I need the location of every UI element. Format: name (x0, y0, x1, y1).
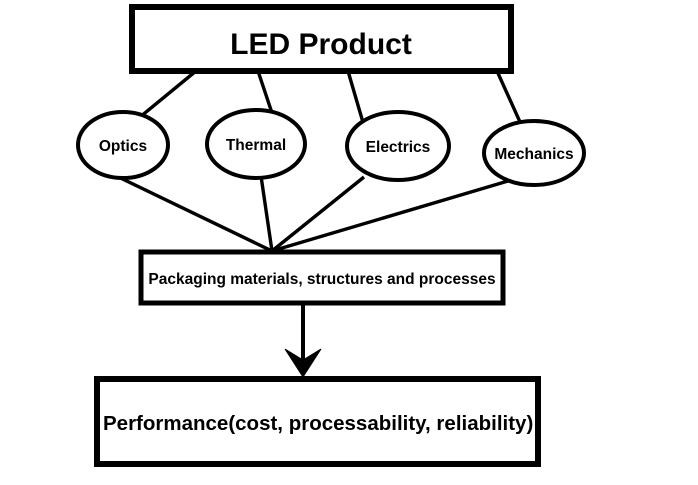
diagram-canvas: LED Product Optics Thermal Electrics Mec… (0, 0, 698, 485)
connector-mechanics-to-packaging (272, 181, 508, 251)
led-product-flow-diagram: LED Product Optics Thermal Electrics Mec… (0, 0, 698, 485)
connector-electrics-to-packaging (272, 177, 364, 251)
connector-optics-to-packaging (108, 172, 272, 251)
packaging-label: Packaging materials, structures and proc… (148, 271, 495, 288)
led-product-label: LED Product (230, 28, 412, 61)
electrics-label: Electrics (366, 139, 431, 156)
node-optics[interactable]: Optics (78, 112, 168, 178)
connector-thermal-to-packaging (261, 176, 272, 251)
performance-label: Performance(cost, processability, reliab… (103, 412, 533, 435)
thermal-label: Thermal (226, 137, 286, 154)
down-arrow (285, 303, 321, 377)
node-packaging[interactable]: Packaging materials, structures and proc… (141, 252, 503, 303)
node-mechanics[interactable]: Mechanics (484, 121, 584, 185)
node-performance[interactable]: Performance(cost, processability, reliab… (97, 379, 538, 464)
node-thermal[interactable]: Thermal (207, 110, 305, 178)
mechanics-label: Mechanics (494, 146, 573, 163)
node-electrics[interactable]: Electrics (347, 112, 449, 180)
node-led-product[interactable]: LED Product (132, 7, 511, 71)
optics-label: Optics (99, 138, 147, 155)
